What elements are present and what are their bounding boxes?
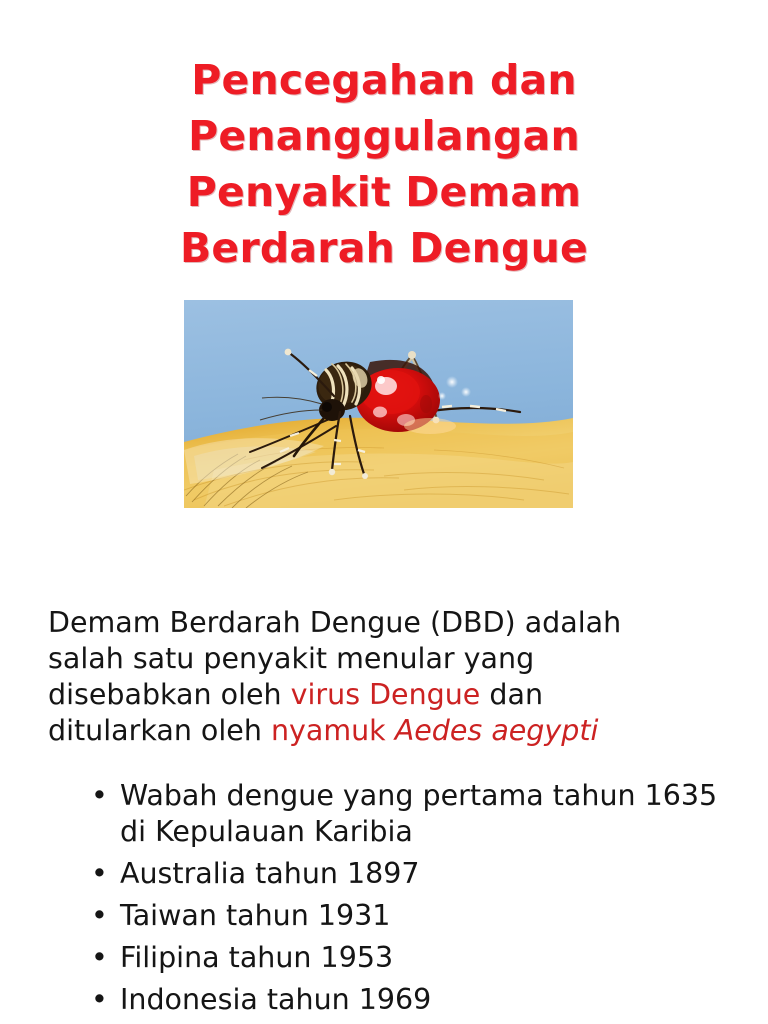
- paragraph-line-3-pre: disebabkan oleh: [48, 678, 291, 711]
- nyamuk-highlight: nyamuk: [271, 714, 395, 747]
- bullet-marker-icon: •: [91, 856, 108, 892]
- title-line-4: Berdarah Dengue: [0, 220, 768, 276]
- mosquito-photo-graphic: [184, 300, 573, 508]
- title-line-1: Pencegahan dan: [0, 52, 768, 108]
- list-item-label: Filipina tahun 1953: [120, 940, 748, 976]
- history-bullet-list: • Wabah dengue yang pertama tahun 1635 d…: [88, 778, 748, 1024]
- bullet-marker-icon: •: [91, 940, 108, 976]
- list-item: • Filipina tahun 1953: [88, 940, 748, 976]
- list-item: • Indonesia tahun 1969: [88, 982, 748, 1018]
- list-item: • Taiwan tahun 1931: [88, 898, 748, 934]
- aedes-aegypti-species-name: Aedes aegypti: [395, 714, 599, 747]
- list-item-label: Taiwan tahun 1931: [120, 898, 748, 934]
- title-line-2: Penanggulangan: [0, 108, 768, 164]
- paragraph-line-4: ditularkan oleh nyamuk Aedes aegypti: [48, 713, 688, 749]
- list-item: • Wabah dengue yang pertama tahun 1635 d…: [88, 778, 748, 850]
- list-item-label: Indonesia tahun 1969: [120, 982, 748, 1018]
- virus-dengue-highlight: virus Dengue: [291, 678, 481, 711]
- list-item-label: Wabah dengue yang pertama tahun 1635 di …: [120, 778, 748, 850]
- presentation-slide: Pencegahan dan Penanggulangan Penyakit D…: [0, 0, 768, 1024]
- bullet-marker-icon: •: [91, 778, 108, 814]
- aedes-aegypti-mosquito-photo: [184, 300, 573, 508]
- bullet-marker-icon: •: [91, 982, 108, 1018]
- paragraph-line-2: salah satu penyakit menular yang: [48, 641, 688, 677]
- list-item: • Australia tahun 1897: [88, 856, 748, 892]
- paragraph-line-3-post: dan: [480, 678, 543, 711]
- intro-paragraph: Demam Berdarah Dengue (DBD) adalah salah…: [48, 605, 688, 749]
- paragraph-line-3: disebabkan oleh virus Dengue dan: [48, 677, 688, 713]
- bullet-marker-icon: •: [91, 898, 108, 934]
- slide-title: Pencegahan dan Penanggulangan Penyakit D…: [0, 52, 768, 276]
- paragraph-line-1: Demam Berdarah Dengue (DBD) adalah: [48, 605, 688, 641]
- title-line-3: Penyakit Demam: [0, 164, 768, 220]
- list-item-label: Australia tahun 1897: [120, 856, 748, 892]
- paragraph-line-4-pre: ditularkan oleh: [48, 714, 271, 747]
